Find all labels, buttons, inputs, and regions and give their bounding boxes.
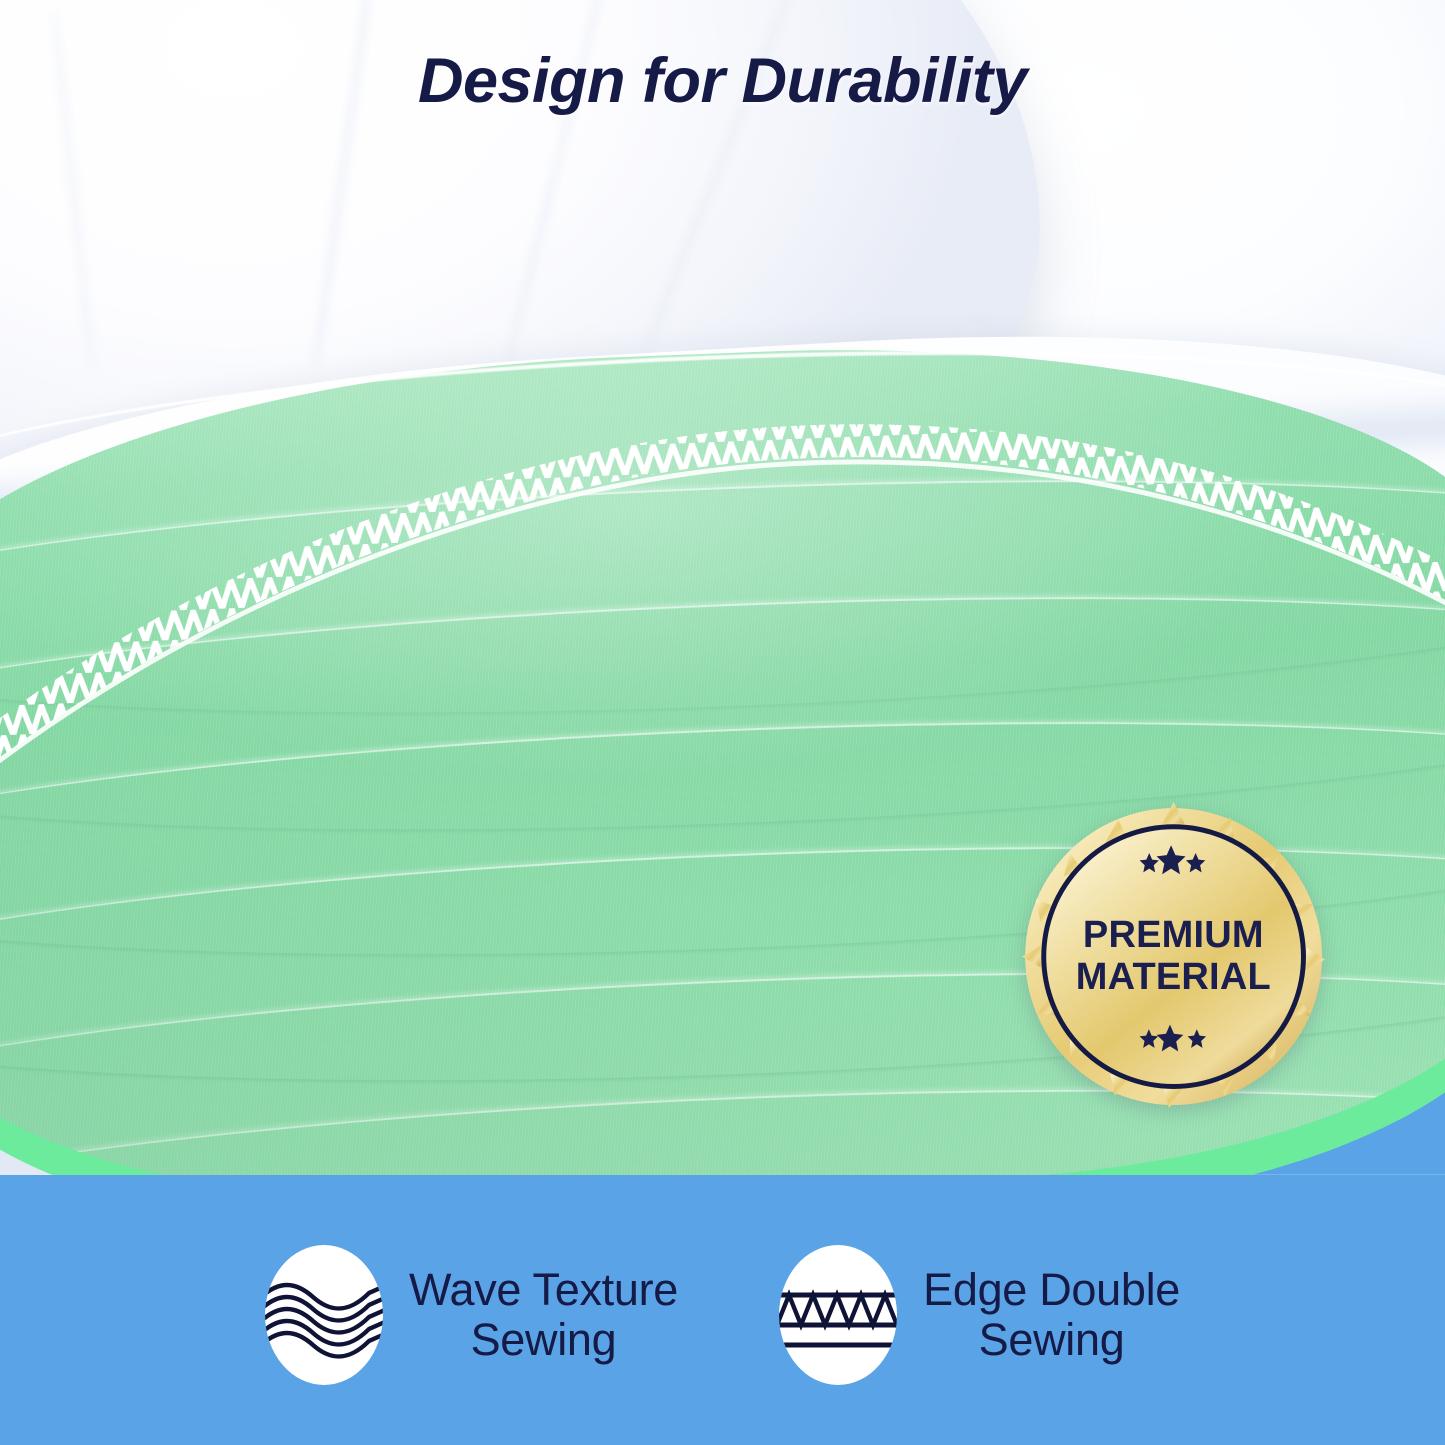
feature-label: Edge Double Sewing: [923, 1265, 1180, 1366]
premium-material-badge: PREMIUM MATERIAL: [1019, 802, 1328, 1111]
product-marketing-image: Design for Durability: [0, 0, 1445, 1445]
feature-list: Wave Texture Sewing Edge Double Sewing: [0, 1175, 1445, 1445]
feature-label: Wave Texture Sewing: [409, 1265, 678, 1366]
badge-starburst-icon: [1019, 802, 1328, 1111]
page-title: Design for Durability: [0, 45, 1445, 117]
zigzag-stitch-icon: [779, 1245, 897, 1385]
feature-wave-texture-sewing: Wave Texture Sewing: [265, 1245, 678, 1385]
wave-lines-icon: [265, 1245, 383, 1385]
feature-edge-double-sewing: Edge Double Sewing: [779, 1245, 1180, 1385]
